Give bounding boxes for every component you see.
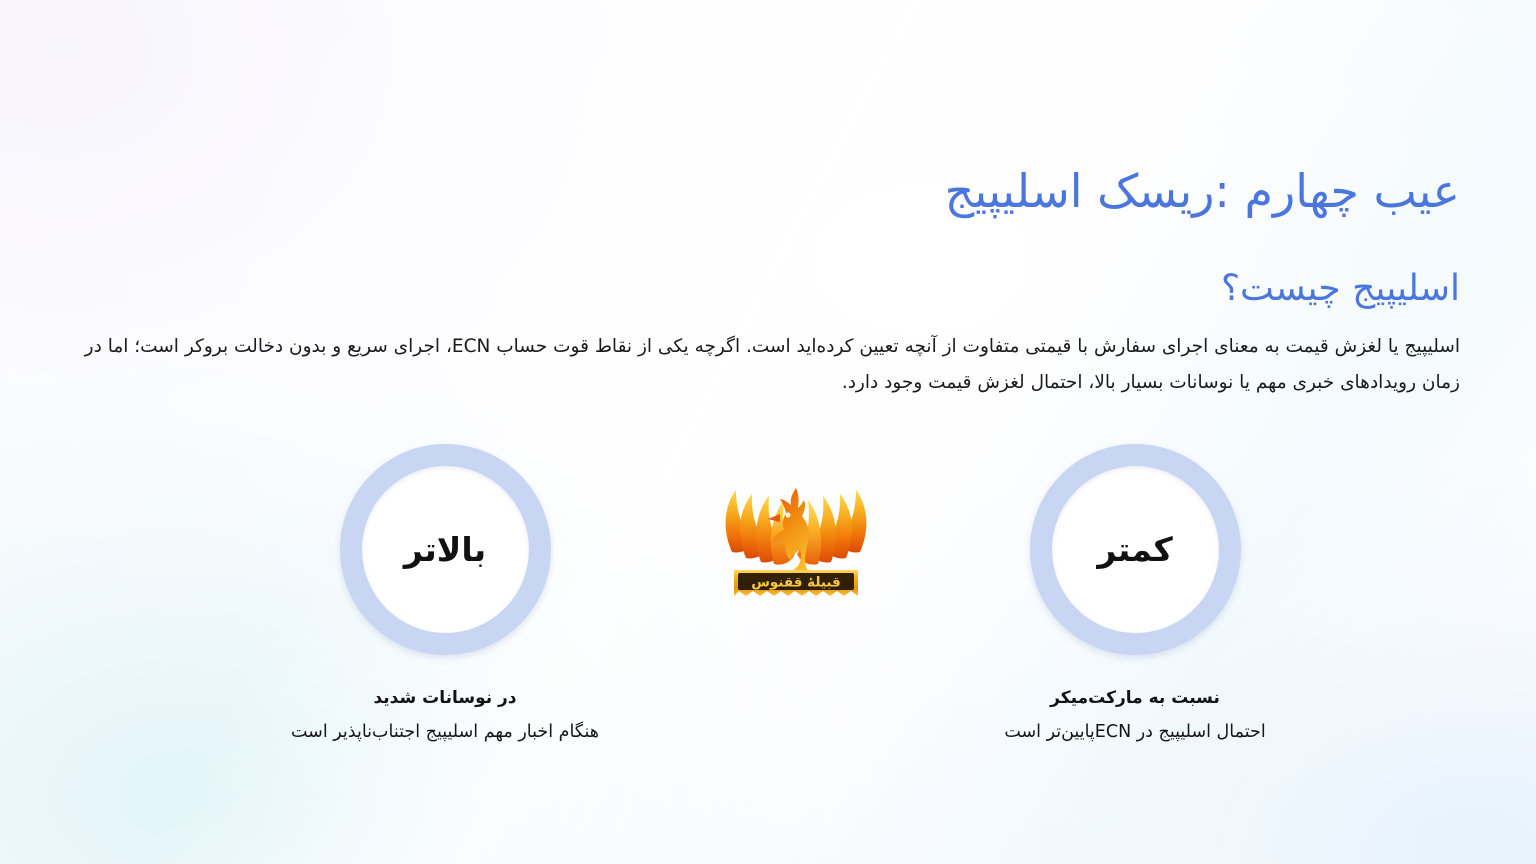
ring-label-lower: کمتر: [1097, 533, 1172, 566]
phoenix-logo: قبیلهٔ ققنوس: [716, 470, 876, 602]
caption-sub-higher: هنگام اخبار مهم اسلیپیج اجتناب‌ناپذیر اس…: [280, 719, 610, 745]
panel-lower: کمتر نسبت به مارکت‌میکر احتمال اسلیپیج د…: [970, 444, 1300, 745]
slide-canvas: عیب چهارم :ریسک اسلیپیج اسلیپیج چیست؟ اس…: [0, 0, 1536, 864]
section-subtitle: اسلیپیج چیست؟: [360, 266, 1460, 313]
caption-bold-higher: در نوسانات شدید: [280, 686, 610, 712]
caption-sub-lower: احتمال اسلیپیج در ECNپایین‌تر است: [970, 719, 1300, 745]
panel-higher: بالاتر در نوسانات شدید هنگام اخبار مهم ا…: [280, 444, 610, 745]
body-paragraph: اسلیپیج یا لغزش قیمت به معنای اجرای سفار…: [76, 329, 1460, 401]
logo-banner-text: قبیلهٔ ققنوس: [751, 575, 840, 591]
caption-bold-lower: نسبت به مارکت‌میکر: [970, 686, 1300, 712]
ring-lower: کمتر: [1030, 444, 1241, 655]
page-title: عیب چهارم :ریسک اسلیپیج: [360, 163, 1460, 221]
ring-higher: بالاتر: [340, 444, 551, 655]
ring-label-higher: بالاتر: [404, 533, 486, 566]
